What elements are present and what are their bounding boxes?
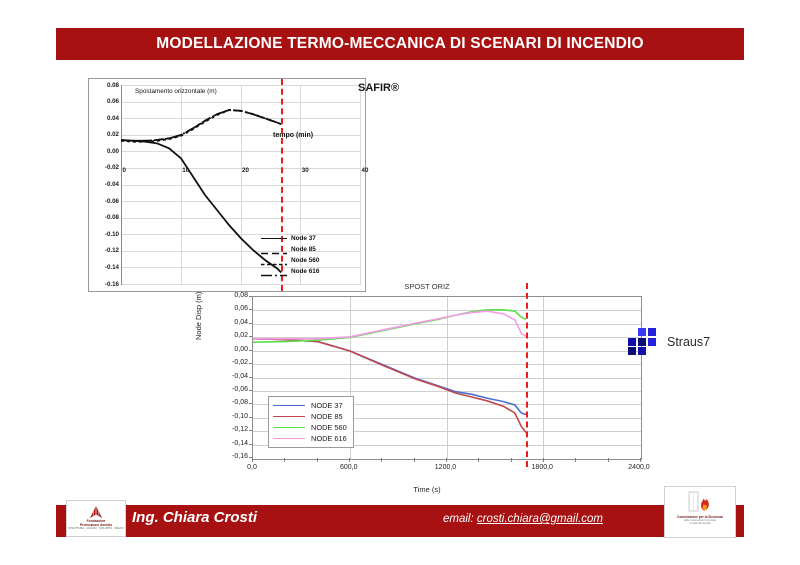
straus7-x-tickmark: [284, 458, 285, 462]
straus7-y-tick: -0,12: [202, 426, 248, 434]
straus7-logo-icon: [628, 328, 658, 356]
straus7-logo-cell: [638, 328, 646, 336]
safir-label: SAFIR®: [358, 82, 399, 94]
safir-x-tick: 0: [123, 167, 126, 174]
straus7-x-tick: 600,0: [327, 464, 371, 471]
straus7-legend-item: NODE 616: [273, 433, 347, 444]
safir-y-tick: 0.02: [89, 131, 119, 138]
safir-y-axis-labels: 0.080.060.040.020.00-0.02-0.04-0.06-0.08…: [89, 85, 119, 285]
straus7-logo-cell: [628, 347, 636, 355]
straus7-x-tickmark: [608, 458, 609, 462]
safir-chart: 0.080.060.040.020.00-0.02-0.04-0.06-0.08…: [88, 78, 366, 292]
safir-series-line: [121, 110, 281, 141]
safir-y-tick: -0.02: [89, 164, 119, 171]
straus7-legend: NODE 37NODE 85NODE 560NODE 616: [268, 396, 354, 448]
straus7-x-tick: 2400,0: [617, 464, 661, 471]
slide-root: MODELLAZIONE TERMO-MECCANICA DI SCENARI …: [0, 0, 800, 565]
straus7-y-tick: -0,02: [202, 359, 248, 367]
straus7-y-tick: -0,08: [202, 399, 248, 407]
straus7-logo-cell: [638, 347, 646, 355]
straus7-x-tickmark: [414, 458, 415, 462]
safir-x-tick: 20: [242, 167, 249, 174]
safir-annotation: Spostamento orizzontale (m): [135, 88, 217, 95]
safir-y-tick: 0.04: [89, 115, 119, 122]
fondazione-promozione-acciaio-logo: Fondazione Promozione Acciaio STRUTTURE …: [66, 500, 126, 537]
fpa-line3: STRUTTURE · ACCIAIO · SVILUPPO · SPAZIO: [68, 527, 123, 530]
straus7-legend-key: [273, 405, 305, 406]
safir-legend-item: Node 616: [261, 266, 357, 277]
safir-y-tick: -0.14: [89, 264, 119, 271]
straus7-x-tick: 0,0: [230, 464, 274, 471]
straus7-y-tick: 0,08: [202, 292, 248, 300]
straus7-legend-item: NODE 560: [273, 422, 347, 433]
author-email[interactable]: email: crosti.chiara@gmail.com: [443, 513, 603, 525]
straus7-legend-key: [273, 427, 305, 428]
straus7-x-tickmark: [446, 458, 447, 462]
straus7-y-tick: -0,06: [202, 386, 248, 394]
straus7-y-tick: 0,00: [202, 346, 248, 354]
safir-legend-item: Node 560: [261, 255, 357, 266]
straus7-series-line: [253, 310, 526, 342]
commissione-sicurezza-logo: Commissione per la Sicurezza delle Costr…: [664, 486, 736, 538]
straus7-logo-cell: [648, 328, 656, 336]
straus7-logo-cell: [648, 338, 656, 346]
safir-x-tick: 10: [182, 167, 189, 174]
fpa-mark-icon: [83, 506, 109, 519]
email-link[interactable]: crosti.chiara@gmail.com: [477, 513, 603, 525]
straus7-x-tickmark: [575, 458, 576, 462]
straus7-legend-item: NODE 85: [273, 411, 347, 422]
straus7-x-axis-title: Time (s): [196, 485, 658, 494]
straus7-logo-cell: [628, 338, 636, 346]
safir-y-tick: 0.08: [89, 82, 119, 89]
straus7-x-tick: 1200,0: [424, 464, 468, 471]
straus7-chart-title: SPOST ORIZ: [196, 282, 658, 291]
straus7-y-tick: 0,02: [202, 332, 248, 340]
straus7-x-tickmark: [543, 458, 544, 462]
safir-y-tick: -0.10: [89, 231, 119, 238]
safir-plot-area: Spostamento orizzontale (m) tempo (min) …: [121, 85, 361, 285]
straus7-legend-label: NODE 85: [311, 412, 343, 421]
straus7-legend-label: NODE 616: [311, 434, 347, 443]
straus7-legend-label: NODE 560: [311, 423, 347, 432]
safir-legend: Node 37Node 85Node 560Node 616: [261, 233, 357, 277]
commissione-line3: in caso d'Incendio: [689, 522, 710, 525]
straus7-logo-label: Straus7: [667, 335, 710, 349]
straus7-y-tick: -0,14: [202, 440, 248, 448]
straus7-series-line: [253, 311, 526, 339]
straus7-y-tick: 0,04: [202, 319, 248, 327]
safir-y-tick: 0.06: [89, 98, 119, 105]
safir-y-tick: 0.00: [89, 148, 119, 155]
straus7-x-tickmark: [317, 458, 318, 462]
safir-y-tick: -0.04: [89, 181, 119, 188]
safir-legend-item: Node 37: [261, 233, 357, 244]
email-prefix-label: email:: [443, 513, 477, 525]
straus7-y-tick: 0,06: [202, 305, 248, 313]
straus7-x-tickmark: [511, 458, 512, 462]
safir-y-tick: -0.06: [89, 198, 119, 205]
safir-y-tick: -0.08: [89, 214, 119, 221]
safir-legend-label: Node 85: [291, 246, 316, 253]
straus7-chart: SPOST ORIZ Node Disp (m) 0,080,060,040,0…: [196, 282, 658, 494]
straus7-x-tick: 1800,0: [520, 464, 564, 471]
author-name: Ing. Chiara Crosti: [132, 509, 257, 526]
straus7-x-tickmark: [640, 458, 641, 462]
safir-series-line: [121, 140, 281, 272]
straus7-x-tickmark: [381, 458, 382, 462]
straus7-logo: Straus7: [628, 328, 710, 356]
safir-series-line: [121, 110, 281, 141]
straus7-y-tick: -0,16: [202, 453, 248, 461]
safir-y-tick: -0.16: [89, 281, 119, 288]
straus7-y-tick: -0,10: [202, 413, 248, 421]
safir-y-tick: -0.12: [89, 247, 119, 254]
straus7-legend-key: [273, 416, 305, 417]
straus7-x-tickmark: [478, 458, 479, 462]
straus7-failure-line: [526, 283, 528, 467]
safir-legend-key: [261, 238, 287, 239]
slide-title-bar: MODELLAZIONE TERMO-MECCANICA DI SCENARI …: [56, 28, 744, 60]
straus7-legend-label: NODE 37: [311, 401, 343, 410]
straus7-logo-cell: [638, 338, 646, 346]
page-title: MODELLAZIONE TERMO-MECCANICA DI SCENARI …: [156, 35, 644, 53]
safir-legend-label: Node 616: [291, 268, 319, 275]
safir-legend-item: Node 85: [261, 244, 357, 255]
straus7-x-tickmark: [349, 458, 350, 462]
safir-legend-label: Node 560: [291, 257, 319, 264]
straus7-legend-item: NODE 37: [273, 400, 347, 411]
straus7-x-tickmark: [252, 458, 253, 462]
safir-x-tick: 30: [302, 167, 309, 174]
flame-building-icon: [685, 490, 715, 514]
straus7-legend-key: [273, 438, 305, 439]
straus7-y-tick: -0,04: [202, 373, 248, 381]
safir-x-tick: 40: [362, 167, 369, 174]
safir-legend-label: Node 37: [291, 235, 316, 242]
safir-x-axis-title: tempo (min): [273, 132, 313, 139]
